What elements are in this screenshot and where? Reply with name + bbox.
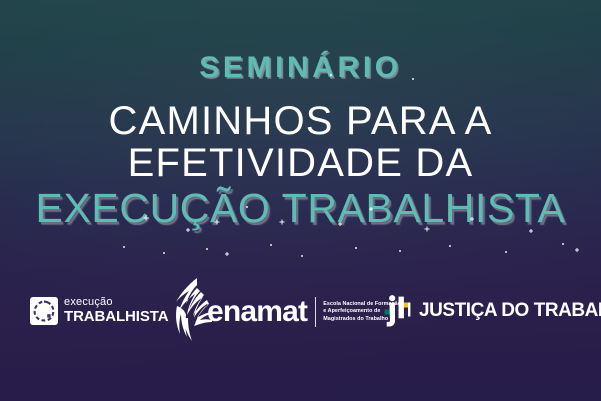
logo-bar: execução TRABALHISTA enamat Escola Nacio… [0,283,601,338]
sparkle-dot [562,243,564,245]
justica-do-trabalho-jt-icon [384,294,412,327]
enamat-wing-icon [167,274,213,346]
sparkle-dot [449,245,451,247]
logo-enamat[interactable]: enamat Escola Nacional de Formação e Ape… [167,274,401,346]
sparkle-dot [270,244,272,246]
sparkle-dot [163,252,165,254]
sparkle-dot [206,248,208,250]
title-line-2: EFETIVIDADE DA [0,141,601,185]
title-line-3-highlight: EXECUÇÃO TRABALHISTA [0,185,601,231]
logo-justica-do-trabalho[interactable]: JUSTIÇA DO TRABALHO [384,283,601,338]
sparkle-dot [123,246,125,248]
sparkle-dot [505,251,507,253]
justica-do-trabalho-wordmark: JUSTIÇA DO TRABALHO [419,300,601,322]
execucao-trabalhista-mark-icon [30,297,58,325]
enamat-divider [315,297,316,327]
seminar-kicker: SEMINÁRIO [0,53,601,83]
sparkle-star [225,252,229,256]
execucao-trabalhista-wordmark: execução TRABALHISTA [64,297,168,324]
enamat-wordmark: enamat [207,295,307,329]
sparkle-star [575,248,579,252]
title-line-1: CAMINHOS PARA A [0,99,601,143]
sparkle-dot [355,247,357,249]
sparkle-dot [301,255,303,257]
poster-canvas: SEMINÁRIO CAMINHOS PARA A EFETIVIDADE DA… [0,0,601,401]
exec-word-top: execução [64,297,168,308]
title-block: SEMINÁRIO CAMINHOS PARA A EFETIVIDADE DA… [0,0,601,231]
sparkle-dot [399,250,401,252]
logo-execucao-trabalhista[interactable]: execução TRABALHISTA [30,283,168,338]
exec-word-bottom: TRABALHISTA [64,309,168,324]
